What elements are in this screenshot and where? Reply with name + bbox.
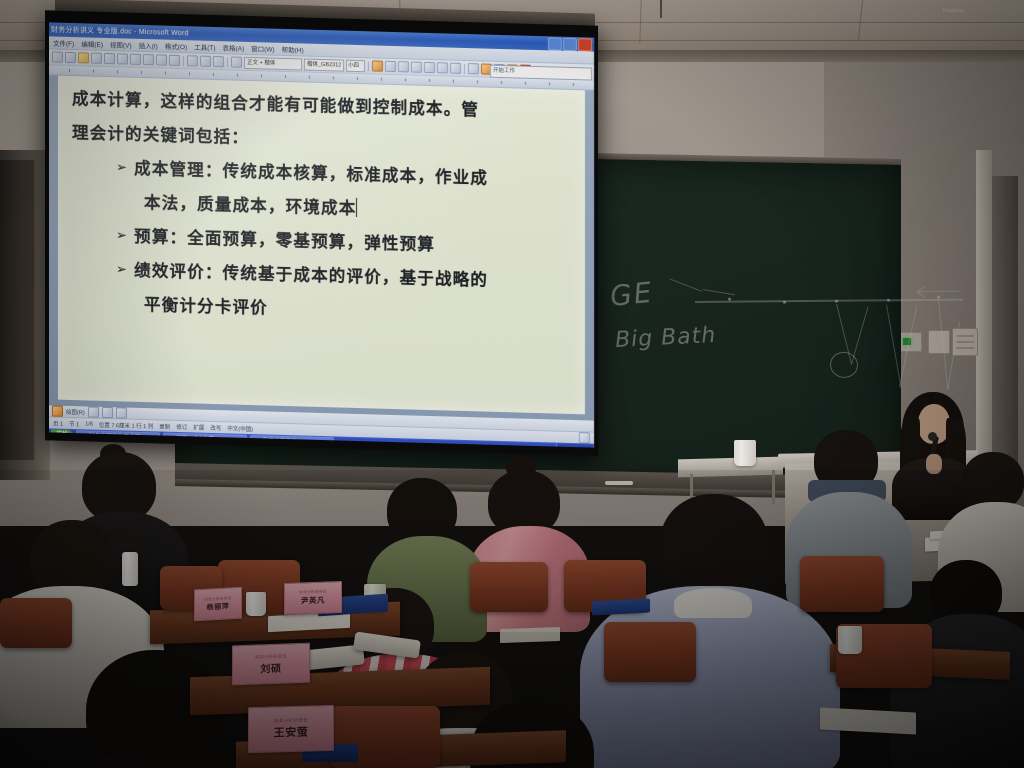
status-line-col: 位置 7.6厘米 1 行 1 列 (99, 420, 153, 430)
right-doorway (992, 176, 1018, 476)
zoom-icon[interactable] (231, 56, 242, 67)
wall-pillar (976, 150, 992, 490)
light-switch-plate[interactable] (928, 330, 950, 354)
chalk-label-ge: GE (608, 276, 655, 313)
left-doorway (0, 160, 36, 460)
classroom-photo: GE Big Bath Radiant 财务分析讲义 专业版.d (0, 0, 1024, 768)
bold-icon[interactable] (372, 60, 383, 71)
minimize-icon[interactable] (548, 37, 562, 50)
select-objects-icon[interactable] (88, 406, 99, 417)
document-text: 成本计算，这样的组合才能有可能做到控制成本。管 理会计的关键词包括： ➢ 成本管… (72, 82, 573, 334)
microphone-head-icon (928, 432, 937, 441)
style-selector[interactable]: 正文 + 楷体 (244, 56, 302, 70)
name-card-name: 刘硕 (260, 659, 281, 675)
presenter-hand (926, 454, 942, 474)
system-tray[interactable]: 14:52 (556, 444, 592, 448)
print-preview-icon[interactable] (117, 53, 128, 64)
autoshapes-icon[interactable] (102, 407, 113, 418)
hyperlink-icon[interactable] (213, 56, 224, 67)
font-selector[interactable]: 楷体_GB2312 (304, 58, 344, 71)
chalk-circle-annotation (830, 352, 858, 379)
status-language[interactable]: 中文(中国) (227, 424, 253, 433)
name-card-org: 财务分析研修班 (274, 718, 308, 725)
status-right-icons (579, 432, 590, 443)
document-page[interactable]: 成本计算，这样的组合才能有可能做到控制成本。管 理会计的关键词包括： ➢ 成本管… (58, 76, 585, 415)
close-icon[interactable] (578, 38, 592, 51)
taskbar-item-3[interactable]: 财务分析讲义.doc (250, 435, 334, 448)
word-doc-icon (168, 435, 174, 441)
paper-cup (246, 592, 266, 616)
chair[interactable] (0, 598, 72, 648)
side-table (678, 457, 783, 478)
menu-tools[interactable]: 工具(T) (194, 41, 215, 52)
menu-insert[interactable]: 插入(I) (139, 40, 158, 51)
cut-icon[interactable] (143, 54, 154, 65)
status-mode-overwrite[interactable]: 改写 (210, 423, 221, 431)
new-document-icon[interactable] (52, 51, 63, 62)
ime-icon[interactable] (569, 447, 574, 448)
name-card-name: 杨丽萍 (207, 601, 230, 612)
name-card-org: 财务分析研修班 (299, 590, 326, 596)
spell-status-icon[interactable] (579, 432, 590, 443)
menu-file[interactable]: 文件(F) (53, 38, 74, 49)
word-doc-icon (255, 438, 261, 444)
status-section: 节 1 (69, 419, 79, 427)
redo-icon[interactable] (200, 56, 211, 67)
document-area[interactable]: 成本计算，这样的组合才能有可能做到控制成本。管 理会计的关键词包括： ➢ 成本管… (49, 75, 594, 420)
name-card: 财务分析研修班 王安萤 (248, 705, 334, 753)
start-button[interactable]: 开始 (51, 429, 73, 441)
italic-icon[interactable] (385, 61, 396, 72)
draw-menu-icon[interactable] (52, 405, 63, 416)
name-card: 财务分析研修班 尹英凡 (284, 581, 342, 615)
paper-cup (734, 440, 756, 466)
mail-icon[interactable] (91, 53, 102, 64)
name-card-name: 尹英凡 (301, 595, 325, 607)
word-doc-icon (81, 433, 87, 439)
handout-papers (500, 627, 560, 643)
paper-cup (838, 626, 862, 654)
taskbar-clock: 14:52 (576, 447, 589, 448)
status-position: 1/8 (85, 421, 93, 427)
maximize-icon[interactable] (563, 37, 577, 50)
projection-screen: 财务分析讲义 专业版.doc - Microsoft Word 文件(F) 编辑… (45, 10, 598, 455)
bullet-arrow-icon: ➢ (116, 253, 128, 287)
print-icon[interactable] (104, 53, 115, 64)
menu-view[interactable]: 视图(V) (110, 39, 132, 50)
name-card-name: 王安萤 (274, 724, 309, 741)
text-caret (356, 198, 357, 217)
menu-edit[interactable]: 编辑(E) (81, 38, 103, 49)
status-mode-revise[interactable]: 修订 (176, 422, 187, 430)
name-card: 财务分析研修班 杨丽萍 (194, 587, 242, 622)
open-icon[interactable] (65, 52, 76, 63)
menu-window[interactable]: 窗口(W) (251, 43, 274, 54)
status-mode-record[interactable]: 录制 (159, 422, 170, 430)
bullet-arrow-icon: ➢ (116, 219, 128, 253)
chalk-stick[interactable] (605, 481, 633, 485)
copy-icon[interactable] (156, 54, 167, 65)
chair[interactable] (800, 556, 884, 612)
name-card: 财务分析研修班 刘硕 (232, 643, 310, 686)
word-window[interactable]: 财务分析讲义 专业版.doc - Microsoft Word 文件(F) 编辑… (49, 22, 594, 447)
save-icon[interactable] (78, 52, 89, 63)
menu-table[interactable]: 表格(A) (223, 42, 245, 53)
paste-icon[interactable] (169, 55, 180, 66)
draw-label[interactable]: 绘图(R) (66, 407, 85, 416)
volume-icon[interactable] (562, 447, 567, 448)
spellcheck-icon[interactable] (130, 54, 141, 65)
font-size-selector[interactable]: 小四 (346, 59, 365, 72)
line-icon[interactable] (116, 407, 127, 418)
chair[interactable] (470, 562, 548, 612)
menu-help[interactable]: 帮助(H) (282, 44, 304, 55)
status-mode-extend[interactable]: 扩展 (193, 423, 204, 431)
align-left-icon[interactable] (424, 62, 435, 73)
bullet-arrow-icon: ➢ (116, 151, 128, 185)
underline-icon[interactable] (398, 61, 409, 72)
font-color-icon[interactable] (411, 61, 422, 72)
menu-format[interactable]: 格式(O) (165, 41, 187, 52)
water-bottle (122, 552, 138, 586)
align-right-icon[interactable] (450, 63, 461, 74)
chalk-label-big-bath: Big Bath (614, 323, 717, 353)
chair[interactable] (604, 622, 696, 682)
status-page: 页 1 (53, 419, 63, 427)
window-buttons[interactable] (548, 37, 592, 51)
screen-brand-label: Radiant (943, 8, 964, 15)
undo-icon[interactable] (187, 55, 198, 66)
name-card-org: 财务分析研修班 (255, 653, 286, 660)
numbered-list-icon[interactable] (468, 63, 479, 74)
align-center-icon[interactable] (437, 62, 448, 73)
